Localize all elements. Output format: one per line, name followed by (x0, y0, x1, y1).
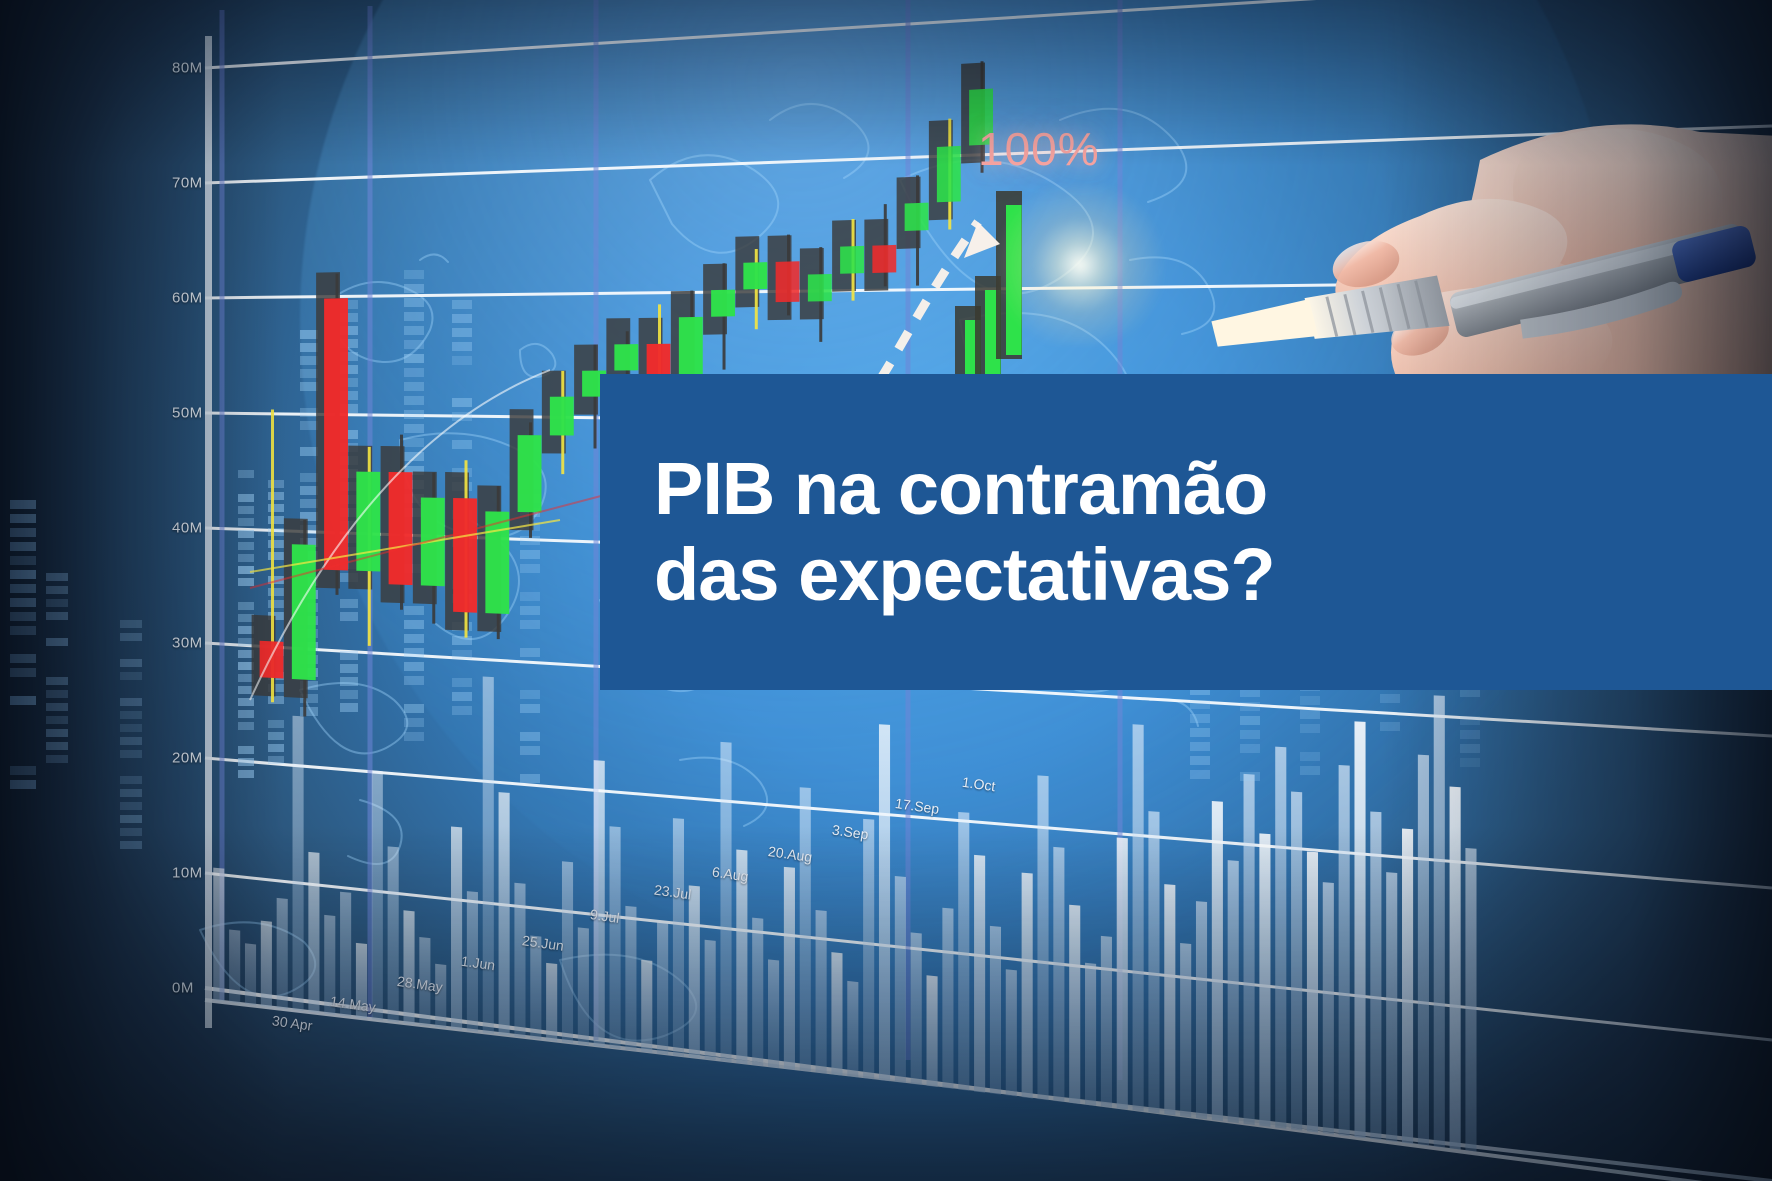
headline-line-1-top: PIB na contramão (654, 450, 1772, 528)
promo-graphic: 80M 70M 60M 50M 40M 30M 20M 10M 0M 30 Ap… (0, 0, 1772, 1181)
headline-line-2-top: das expectativas? (654, 536, 1772, 614)
headline-banner-top: PIB na contramão das expectativas? (600, 374, 1772, 690)
